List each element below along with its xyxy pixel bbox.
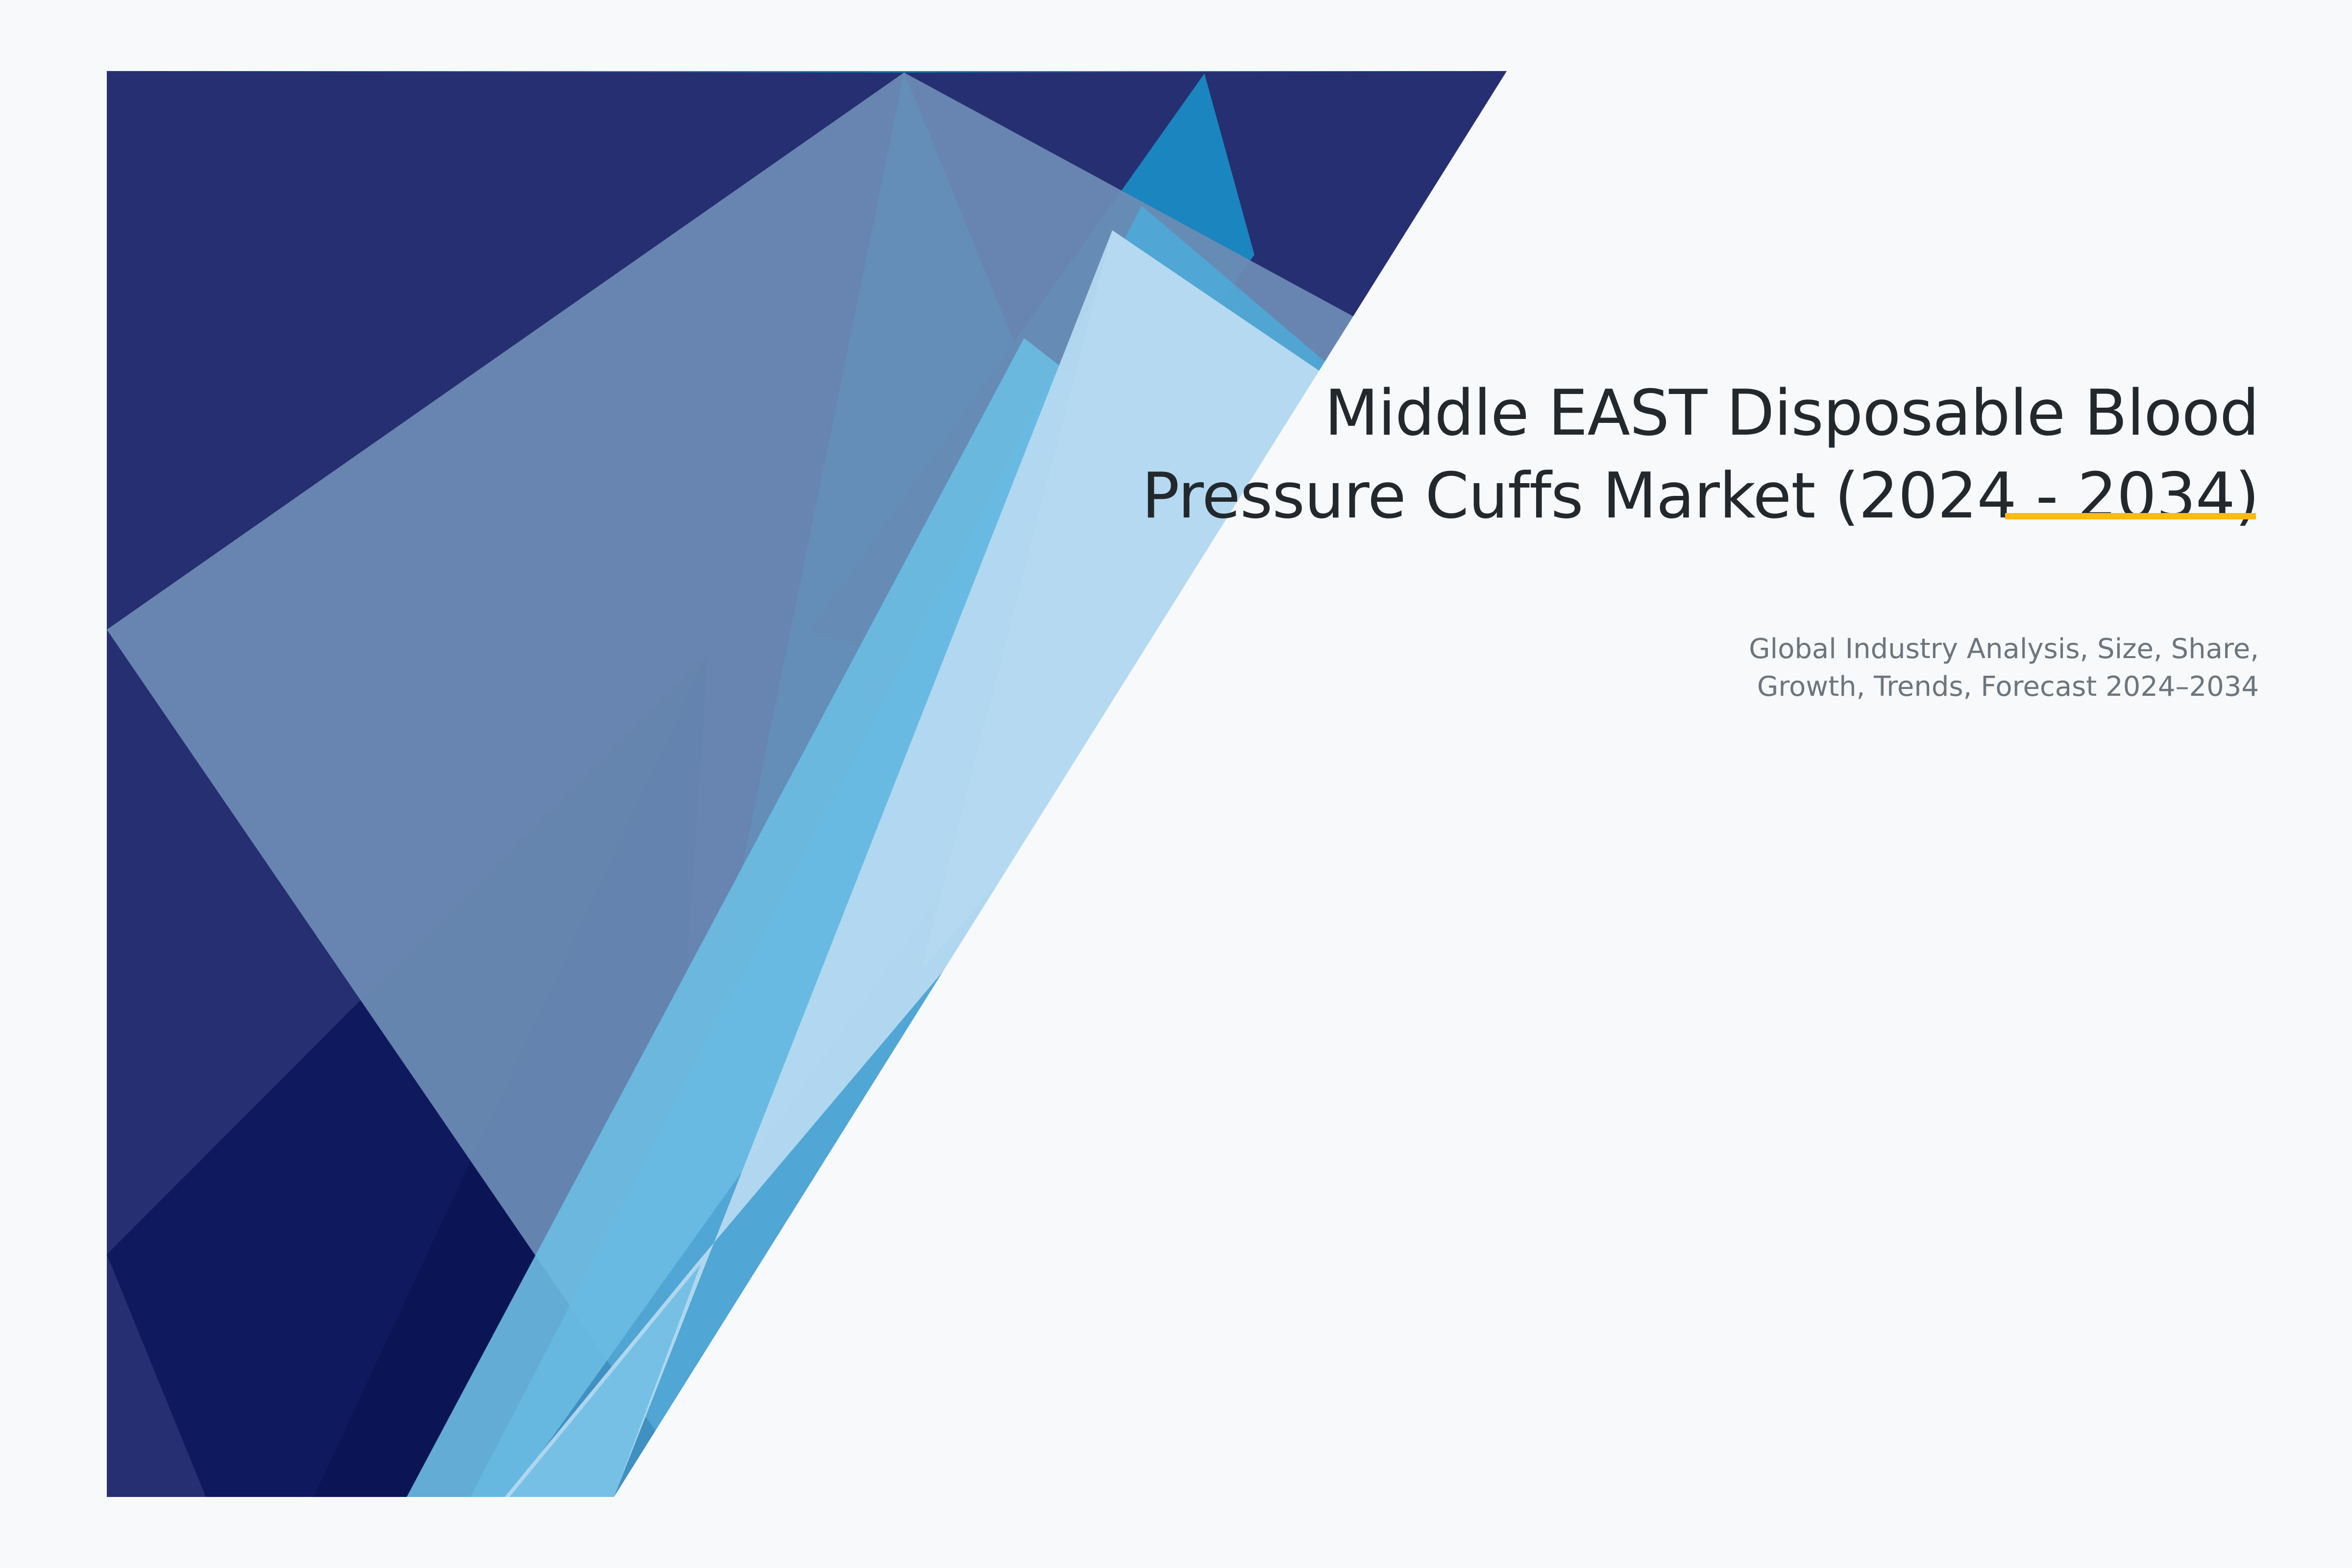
abstract-polygon-artwork <box>0 0 2352 1568</box>
title-accent-underline <box>2005 513 2256 519</box>
artwork-mask-top <box>0 0 2352 71</box>
cyan-base-shape <box>107 71 1507 1497</box>
page-subtitle: Global Industry Analysis, Size, Share, G… <box>735 538 2259 706</box>
cover-page: Middle EAST Disposable Blood Pressure Cu… <box>0 0 2352 1568</box>
deep-navy-spear <box>314 652 708 1497</box>
title-wrapper: Middle EAST Disposable Blood Pressure Cu… <box>735 372 2259 538</box>
slate-blue-panel <box>107 73 1402 1497</box>
slate-bottom-sliver <box>510 1264 701 1497</box>
artwork-mask-left <box>0 0 107 1568</box>
cover-text-block: Middle EAST Disposable Blood Pressure Cu… <box>735 372 2259 706</box>
deep-navy-lower-wedge <box>107 652 708 1497</box>
artwork-mask-bottom <box>0 1497 2352 1568</box>
navy-sweep-shape <box>107 71 904 1497</box>
artwork-mask-right <box>614 71 2352 1497</box>
